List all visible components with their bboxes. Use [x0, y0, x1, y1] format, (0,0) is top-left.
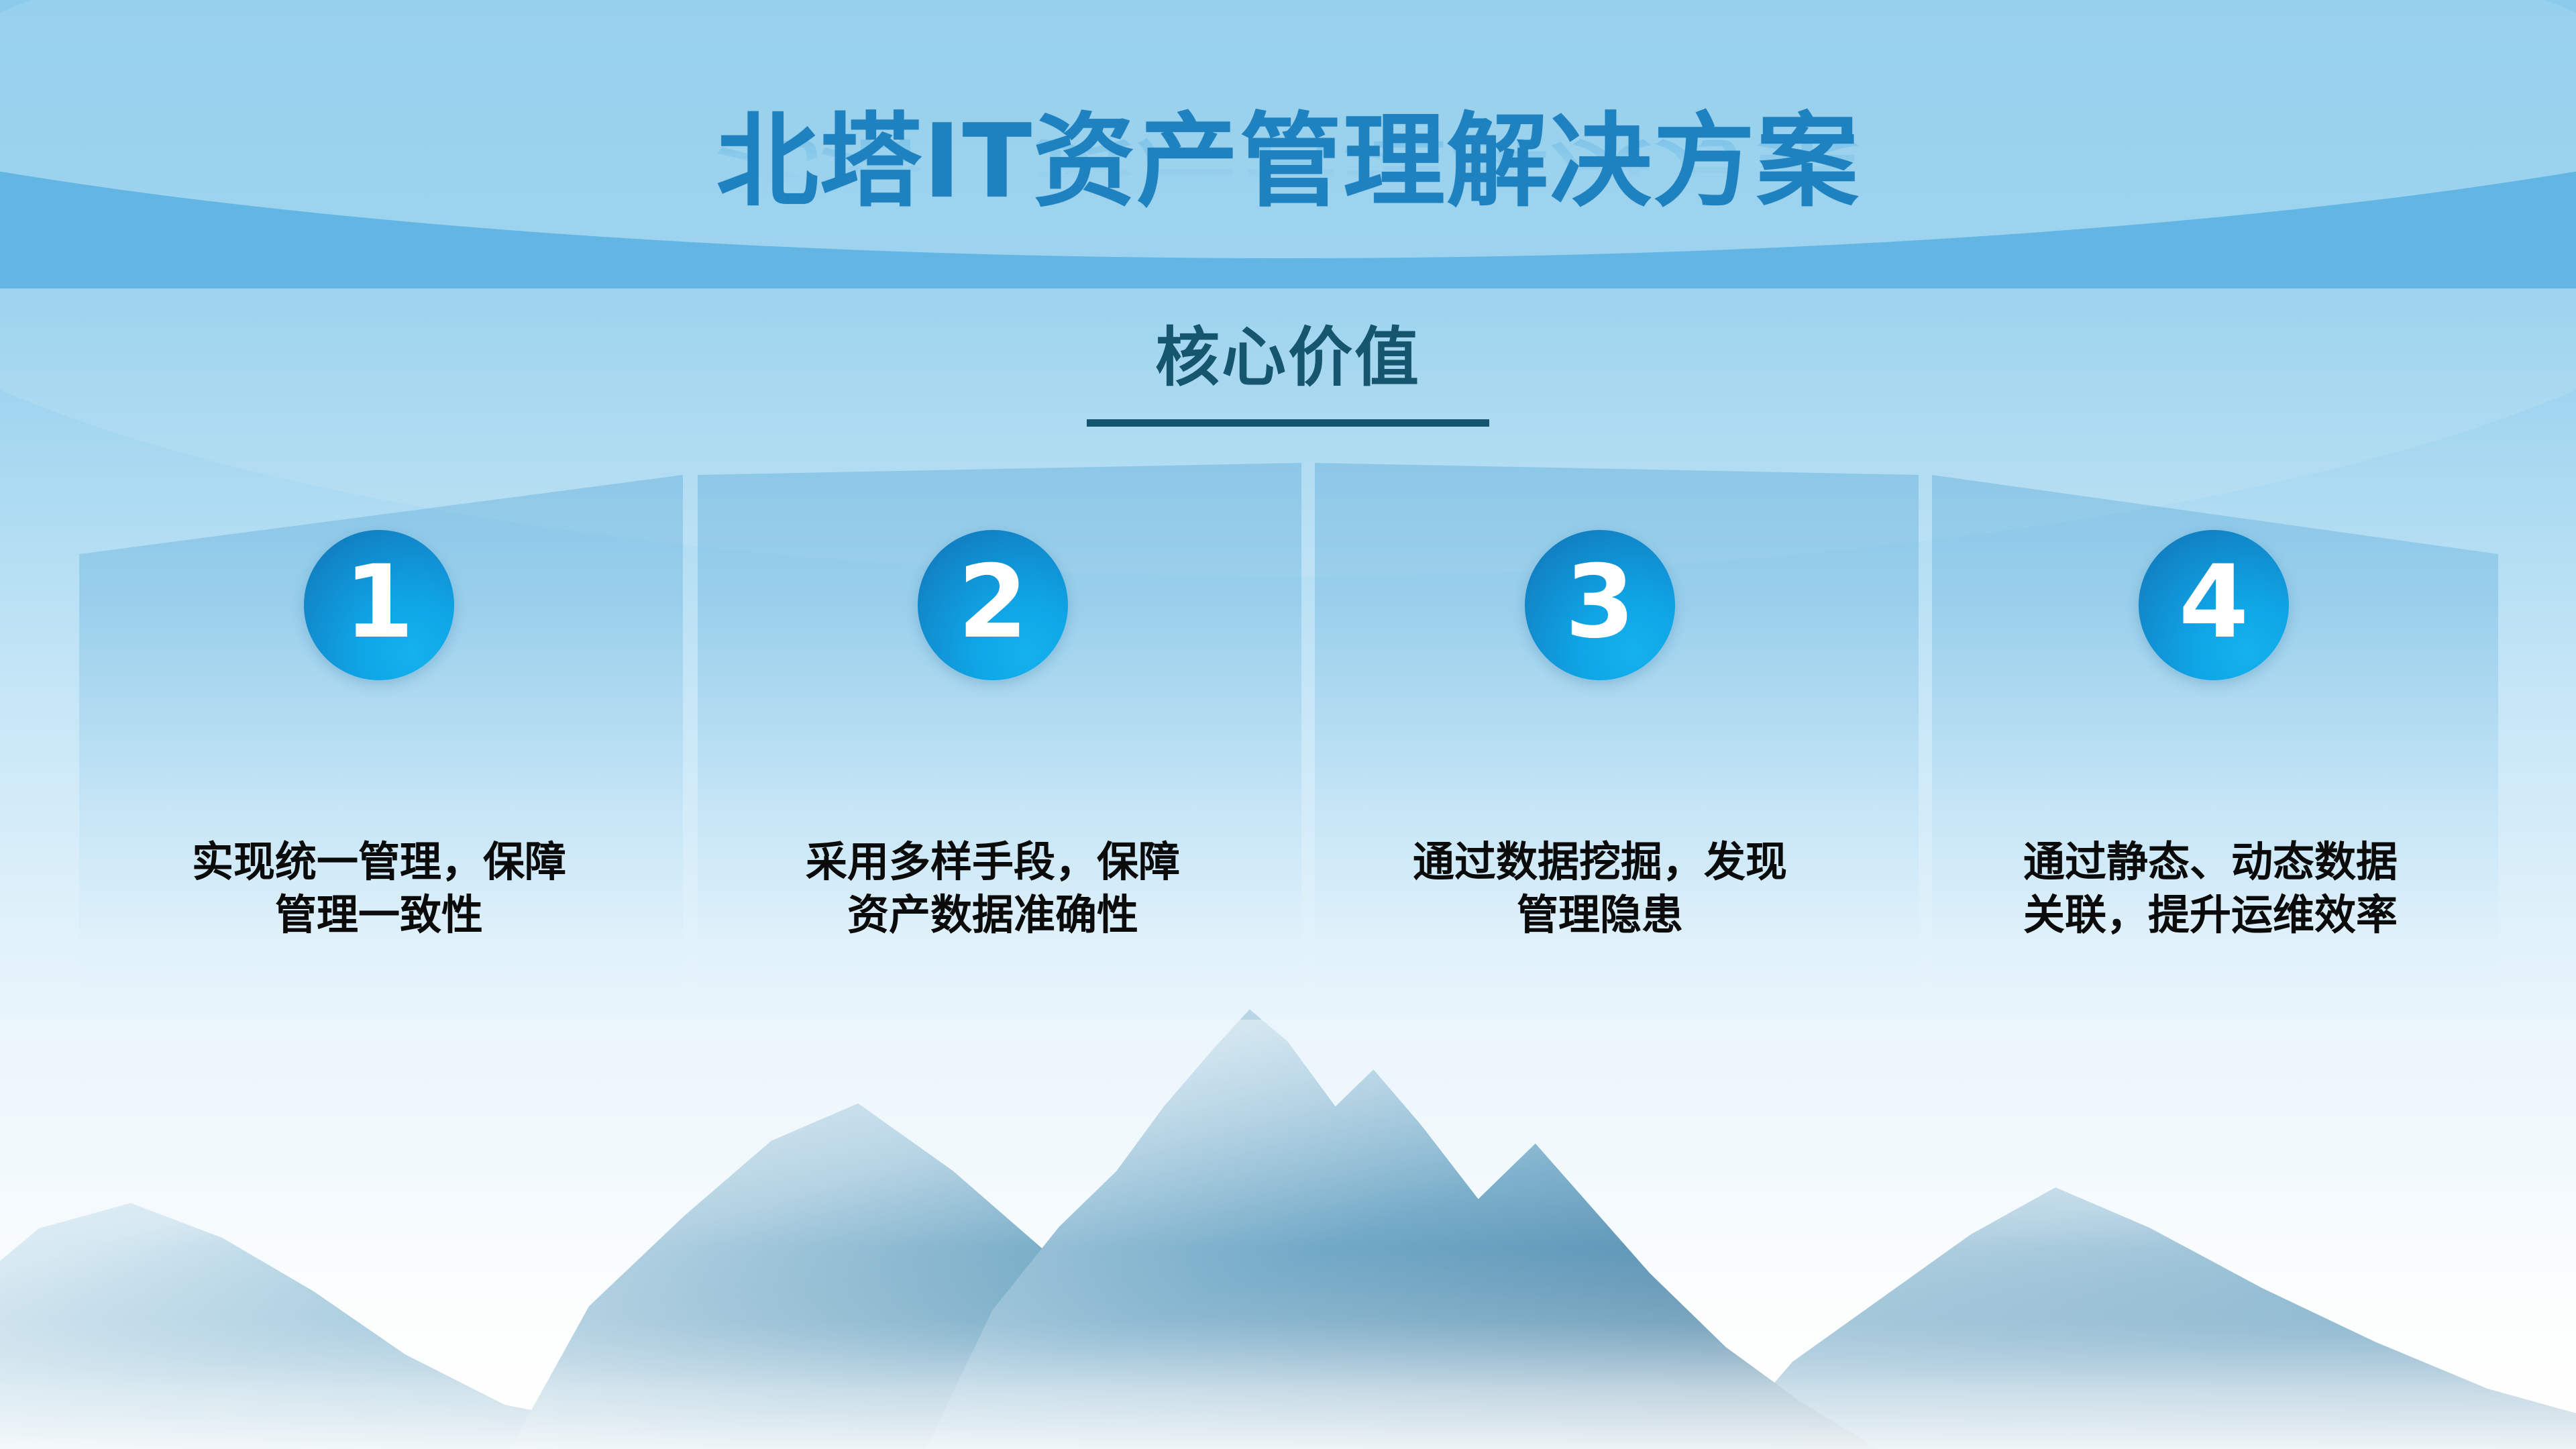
number-badge-1-label: 1 [344, 552, 414, 653]
section-subtitle: 核心价值 [1155, 305, 1421, 408]
number-badge-3[interactable]: 3 [1525, 530, 1675, 680]
value-caption-4: 通过静态、动态数据 关联，提升运维效率 [1976, 835, 2445, 942]
number-badge-3-label: 3 [1565, 552, 1635, 653]
page-title: 北塔IT资产管理解决方案 [716, 111, 1860, 213]
value-caption-1: 实现统一管理，保障 管理一致性 [144, 835, 614, 942]
underline-rule [1087, 419, 1489, 427]
number-badge-4[interactable]: 4 [2139, 530, 2289, 680]
value-caption-2: 采用多样手段，保障 资产数据准确性 [758, 835, 1228, 942]
number-badge-4-label: 4 [2179, 552, 2249, 653]
number-badge-2-label: 2 [958, 552, 1028, 653]
subtitle-underline [0, 418, 2576, 430]
atmospheric-haze [0, 1020, 2576, 1449]
slide-canvas: 北塔IT资产管理解决方案 北塔IT资产管理解决方案 核心价值 1 2 3 4 实… [0, 0, 2576, 1449]
mountain-scenery-image [0, 979, 2576, 1449]
number-badge-2[interactable]: 2 [918, 530, 1068, 680]
number-badge-1[interactable]: 1 [304, 530, 454, 680]
subtitle-block: 核心价值 [0, 305, 2576, 408]
title-block: 北塔IT资产管理解决方案 [0, 111, 2576, 213]
value-caption-3: 通过数据挖掘，发现 管理隐患 [1365, 835, 1835, 942]
